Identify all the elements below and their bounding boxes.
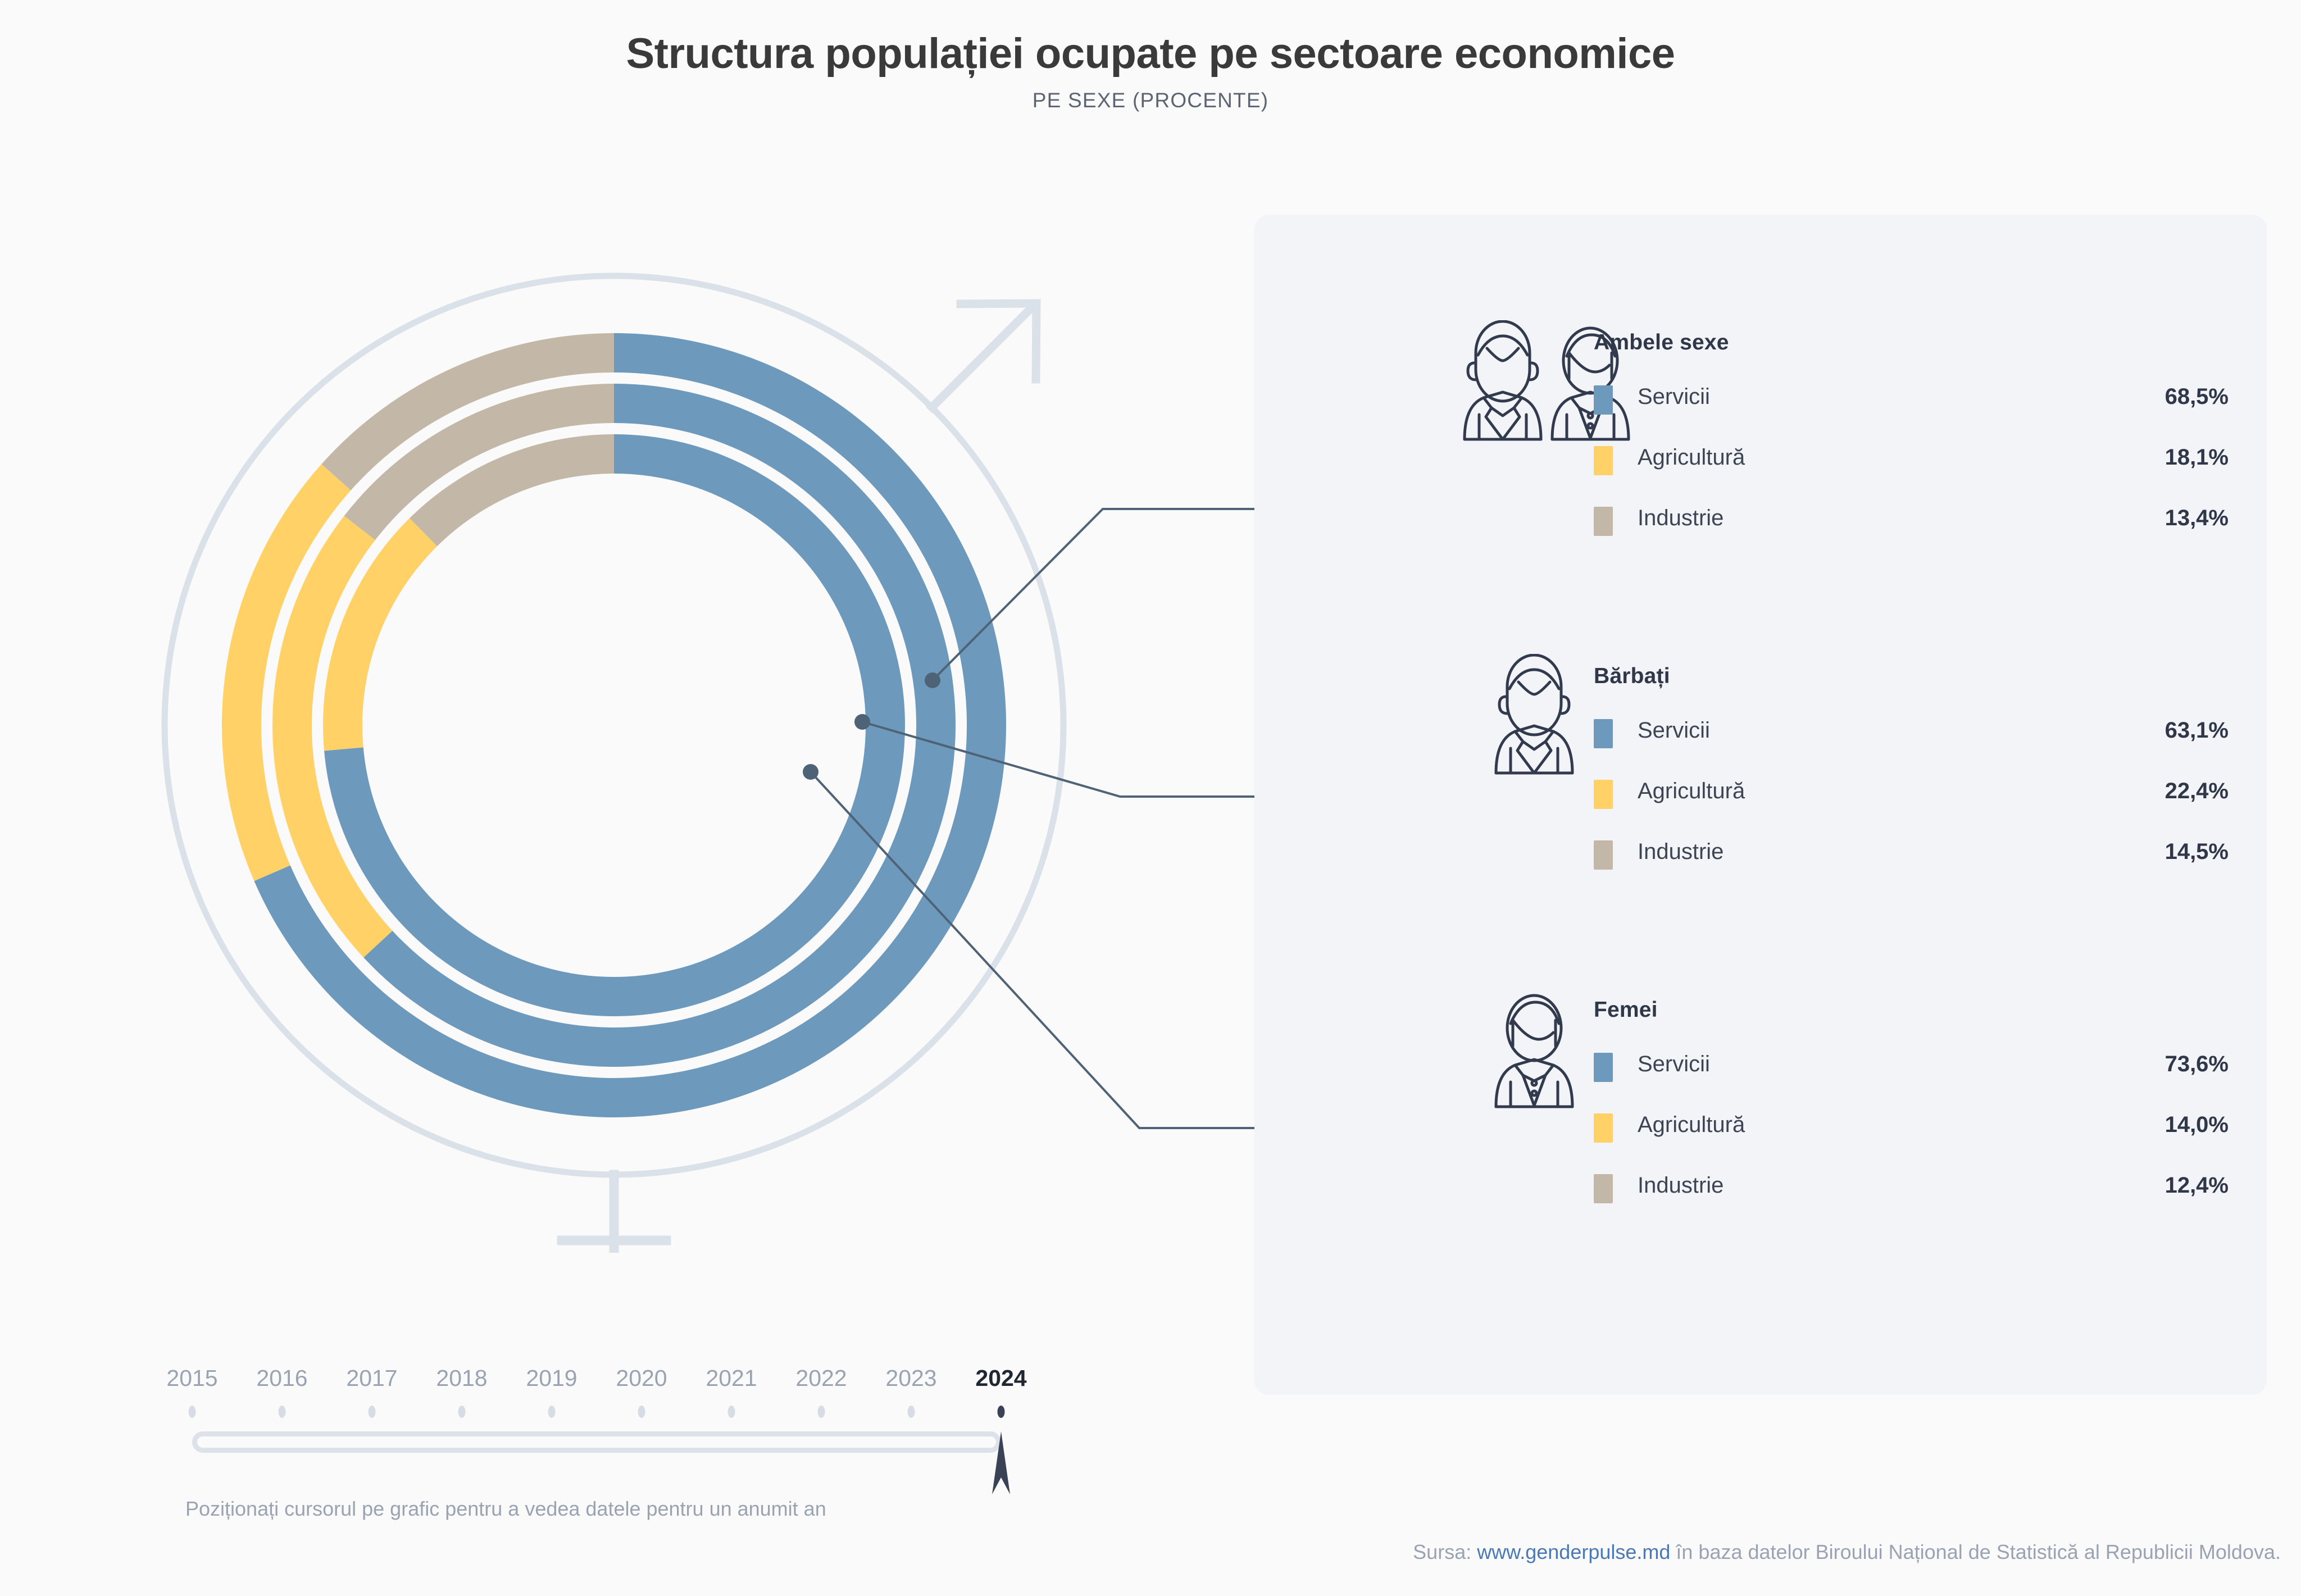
year-tick-2020[interactable] bbox=[638, 1406, 645, 1418]
legend-value: 63,1% bbox=[2165, 718, 2229, 743]
source-footer: Sursa: www.genderpulse.md în baza datelo… bbox=[0, 1540, 2281, 1564]
year-label-2023[interactable]: 2023 bbox=[885, 1365, 936, 1392]
year-label-2017[interactable]: 2017 bbox=[346, 1365, 397, 1392]
year-slider[interactable]: 2015201620172018201920202021202220232024 bbox=[185, 1365, 1062, 1472]
legend-swatch-industrie bbox=[1594, 507, 1613, 536]
legend-swatch-servicii bbox=[1594, 719, 1613, 748]
legend-label: Industrie bbox=[1638, 506, 1724, 531]
legend-swatch-servicii bbox=[1594, 385, 1613, 415]
year-tick-2016[interactable] bbox=[279, 1406, 286, 1418]
anchor-dot-barbati bbox=[854, 714, 870, 730]
year-label-row: 2015201620172018201920202021202220232024 bbox=[185, 1365, 1062, 1399]
year-label-2016[interactable]: 2016 bbox=[256, 1365, 307, 1392]
legend-swatch-agricultura bbox=[1594, 780, 1613, 809]
year-label-2015[interactable]: 2015 bbox=[166, 1365, 217, 1392]
year-tick-2023[interactable] bbox=[908, 1406, 915, 1418]
slider-track[interactable] bbox=[192, 1431, 1001, 1453]
year-tick-2017[interactable] bbox=[369, 1406, 376, 1418]
year-tick-2022[interactable] bbox=[818, 1406, 825, 1418]
legend-value: 13,4% bbox=[2165, 506, 2229, 531]
year-label-2020[interactable]: 2020 bbox=[616, 1365, 667, 1392]
year-tick-2015[interactable] bbox=[189, 1406, 196, 1418]
donut-svg bbox=[107, 213, 1146, 1253]
legend-row[interactable]: Agricultură 18,1% bbox=[1594, 444, 2229, 478]
group-title: Femei bbox=[1594, 998, 1658, 1022]
page-title: Structura populației ocupate pe sectoare… bbox=[0, 29, 2301, 78]
slider-hint: Poziționați cursorul pe grafic pentru a … bbox=[185, 1497, 826, 1521]
legend-label: Industrie bbox=[1638, 1173, 1724, 1198]
detail-panel: Ambele sexe Servicii 68,5% Agricultură 1… bbox=[1254, 215, 2267, 1395]
legend-row[interactable]: Industrie 14,5% bbox=[1594, 838, 2229, 872]
female-symbol-cross bbox=[562, 1175, 666, 1253]
legend-row[interactable]: Agricultură 14,0% bbox=[1594, 1111, 2229, 1145]
legend-label: Agricultură bbox=[1638, 1112, 1745, 1138]
group-title: Ambele sexe bbox=[1594, 330, 1729, 355]
year-label-2019[interactable]: 2019 bbox=[526, 1365, 577, 1392]
legend-value: 68,5% bbox=[2165, 384, 2229, 410]
legend-swatch-servicii bbox=[1594, 1053, 1613, 1082]
source-link[interactable]: www.genderpulse.md bbox=[1477, 1540, 1670, 1563]
source-prefix: Sursa: bbox=[1413, 1540, 1477, 1563]
legend-value: 22,4% bbox=[2165, 779, 2229, 804]
legend-row[interactable]: Industrie 12,4% bbox=[1594, 1172, 2229, 1206]
legend-swatch-agricultura bbox=[1594, 1113, 1613, 1143]
legend-row[interactable]: Servicii 68,5% bbox=[1594, 383, 2229, 417]
legend-label: Agricultură bbox=[1638, 779, 1745, 804]
gender-donut-chart[interactable] bbox=[107, 213, 1146, 1253]
legend-label: Servicii bbox=[1638, 718, 1710, 743]
legend-row[interactable]: Agricultură 22,4% bbox=[1594, 777, 2229, 811]
legend-swatch-industrie bbox=[1594, 1174, 1613, 1203]
year-tick-2021[interactable] bbox=[728, 1406, 735, 1418]
slider-thumb[interactable] bbox=[992, 1428, 1011, 1495]
legend-label: Servicii bbox=[1638, 384, 1710, 410]
legend-row[interactable]: Industrie 13,4% bbox=[1594, 504, 2229, 538]
male-symbol-arrow bbox=[932, 303, 1036, 407]
year-tick-2024[interactable] bbox=[998, 1406, 1005, 1418]
year-tick-2019[interactable] bbox=[548, 1406, 556, 1418]
year-label-2021[interactable]: 2021 bbox=[706, 1365, 757, 1392]
page-subtitle: PE SEXE (PROCENTE) bbox=[0, 89, 2301, 112]
year-label-2022[interactable]: 2022 bbox=[795, 1365, 847, 1392]
source-suffix: în baza datelor Biroului Național de Sta… bbox=[1670, 1540, 2281, 1563]
legend-value: 14,5% bbox=[2165, 839, 2229, 865]
legend-label: Industrie bbox=[1638, 839, 1724, 865]
legend-value: 73,6% bbox=[2165, 1052, 2229, 1077]
donut-rings bbox=[222, 333, 1006, 1117]
legend-value: 18,1% bbox=[2165, 445, 2229, 470]
legend-swatch-industrie bbox=[1594, 840, 1613, 870]
year-label-2018[interactable]: 2018 bbox=[436, 1365, 487, 1392]
group-title: Bărbați bbox=[1594, 664, 1670, 689]
legend-label: Servicii bbox=[1638, 1052, 1710, 1077]
infographic-page: Structura populației ocupate pe sectoare… bbox=[0, 0, 2301, 1596]
year-label-2024[interactable]: 2024 bbox=[975, 1365, 1026, 1392]
legend-row[interactable]: Servicii 63,1% bbox=[1594, 717, 2229, 751]
anchor-dot-femei bbox=[803, 764, 818, 780]
legend-row[interactable]: Servicii 73,6% bbox=[1594, 1051, 2229, 1084]
legend-value: 14,0% bbox=[2165, 1112, 2229, 1138]
legend-swatch-agricultura bbox=[1594, 446, 1613, 475]
year-tick-2018[interactable] bbox=[458, 1406, 466, 1418]
legend-label: Agricultură bbox=[1638, 445, 1745, 470]
legend-value: 12,4% bbox=[2165, 1173, 2229, 1198]
anchor-dot-ambele-sexe bbox=[925, 672, 940, 688]
